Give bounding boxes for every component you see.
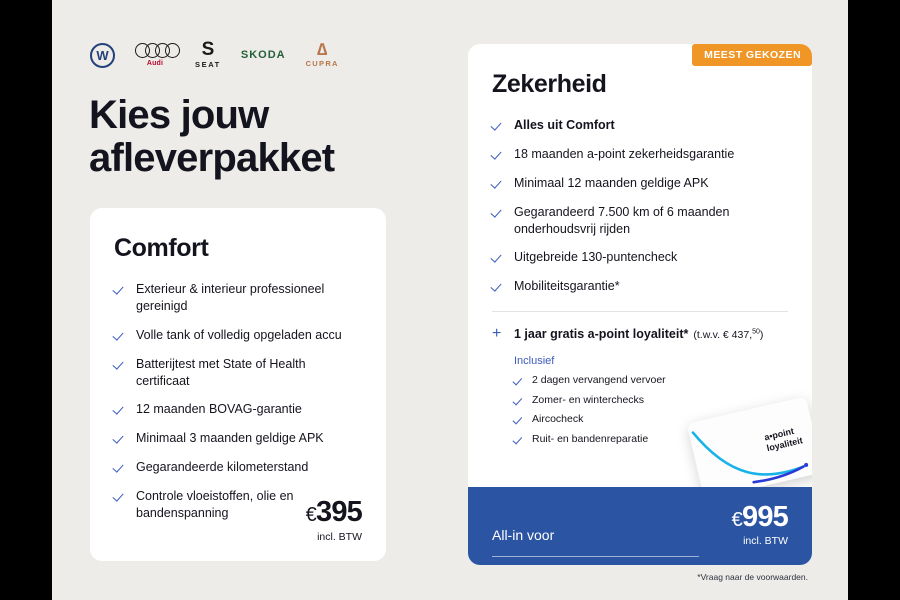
check-icon (114, 359, 126, 371)
audi-wordmark: Audi (147, 60, 163, 67)
seat-s-icon: S (202, 41, 215, 58)
check-icon (114, 462, 126, 474)
check-icon (114, 284, 126, 296)
feature-text: Gegarandeerde kilometerstand (136, 459, 308, 476)
feature-text: Uitgebreide 130-puntencheck (514, 249, 677, 266)
comfort-feature-list: Exterieur & interieur professioneel gere… (114, 281, 362, 522)
sub-feature-text: Aircocheck (532, 413, 583, 427)
price-amount: 395 (316, 496, 362, 528)
check-icon (514, 376, 524, 386)
price-amount: 995 (742, 501, 788, 533)
list-item: Uitgebreide 130-puntencheck (492, 249, 788, 266)
list-item: Zomer- en winterchecks (514, 394, 788, 408)
screenshot-stage: W Audi S SEAT SKODA ∆ CUPRA Kies jouw af… (0, 0, 900, 600)
list-item: 18 maanden a-point zekerheidsgarantie (492, 146, 788, 163)
feature-text: Mobiliteitsgarantie* (514, 278, 620, 295)
list-item: Gegarandeerd 7.500 km of 6 maanden onder… (492, 204, 788, 238)
feature-text: Minimaal 3 maanden geldige APK (136, 430, 324, 447)
loyalty-title-text: 1 jaar gratis a-point loyaliteit* (514, 327, 688, 341)
check-icon (492, 281, 504, 293)
package-card-zekerheid[interactable]: MEEST GEKOZEN Zekerheid Alles uit Comfor… (468, 44, 812, 565)
sub-feature-text: Ruit- en bandenreparatie (532, 433, 648, 447)
feature-text: Volle tank of volledig opgeladen accu (136, 327, 342, 344)
comfort-price-block: €395 incl. BTW (306, 498, 362, 543)
check-icon (114, 433, 126, 445)
audi-logo: Audi (135, 43, 175, 67)
audi-rings-icon (135, 43, 175, 58)
currency-symbol: € (732, 509, 742, 531)
feature-text: Gegarandeerd 7.500 km of 6 maanden onder… (514, 204, 788, 238)
zekerheid-title: Zekerheid (492, 70, 788, 99)
loyalty-title: 1 jaar gratis a-point loyaliteit*(t.w.v.… (514, 327, 763, 341)
zekerheid-feature-list: Alles uit Comfort 18 maanden a-point zek… (492, 117, 788, 295)
list-item: 2 dagen vervangend vervoer (514, 374, 788, 388)
loyalty-value-suffix: ) (760, 329, 764, 341)
footer-rule (492, 556, 699, 557)
list-item: Batterijtest met State of Health certifi… (114, 356, 362, 390)
zekerheid-price-footer: All-in voor €995 incl. BTW (468, 487, 812, 565)
footer-row: All-in voor €995 incl. BTW (492, 503, 788, 547)
package-card-comfort[interactable]: Comfort Exterieur & interieur profession… (90, 208, 386, 561)
plus-icon: + (492, 326, 504, 342)
skoda-wordmark: SKODA (241, 49, 286, 61)
comfort-title: Comfort (114, 234, 362, 263)
check-icon (114, 330, 126, 342)
page-canvas: W Audi S SEAT SKODA ∆ CUPRA Kies jouw af… (52, 0, 848, 600)
check-icon (114, 491, 126, 503)
zekerheid-body: MEEST GEKOZEN Zekerheid Alles uit Comfor… (468, 44, 812, 447)
comfort-price-note: incl. BTW (306, 531, 362, 543)
check-icon (492, 120, 504, 132)
feature-text: 18 maanden a-point zekerheidsgarantie (514, 146, 734, 163)
cupra-logo: ∆ CUPRA (306, 42, 339, 67)
loyalty-highlight-row: + 1 jaar gratis a-point loyaliteit*(t.w.… (492, 326, 788, 342)
footnote: *Vraag naar de voorwaarden. (697, 572, 808, 582)
check-icon (492, 178, 504, 190)
check-icon (492, 149, 504, 161)
list-item: Minimaal 12 maanden geldige APK (492, 175, 788, 192)
feature-text: Exterieur & interieur professioneel gere… (136, 281, 362, 315)
status-badge: MEEST GEKOZEN (692, 44, 812, 66)
feature-text: 12 maanden BOVAG-garantie (136, 401, 302, 418)
seat-wordmark: SEAT (195, 60, 221, 69)
list-item: Exterieur & interieur professioneel gere… (114, 281, 362, 315)
list-item: Minimaal 3 maanden geldige APK (114, 430, 362, 447)
loyalty-value-cents: 50 (752, 329, 760, 336)
allin-label: All-in voor (492, 527, 554, 547)
cupra-wordmark: CUPRA (306, 59, 339, 68)
comfort-price: €395 (306, 498, 362, 527)
check-icon (114, 404, 126, 416)
loyalty-value-note: (t.w.v. € 437,50) (693, 329, 763, 341)
check-icon (514, 415, 524, 425)
cupra-triangle-icon: ∆ (317, 42, 327, 57)
skoda-logo: SKODA (241, 49, 286, 61)
feature-text: Alles uit Comfort (514, 117, 615, 134)
seat-logo: S SEAT (195, 41, 221, 68)
sub-feature-text: Zomer- en winterchecks (532, 394, 644, 408)
page-title: Kies jouw afleverpakket (89, 94, 419, 180)
sub-feature-text: 2 dagen vervangend vervoer (532, 374, 666, 388)
zekerheid-price-note: incl. BTW (732, 535, 788, 547)
brand-logo-strip: W Audi S SEAT SKODA ∆ CUPRA (90, 38, 339, 72)
check-icon (514, 435, 524, 445)
list-item: Alles uit Comfort (492, 117, 788, 134)
check-icon (492, 207, 504, 219)
zekerheid-price-block: €995 incl. BTW (732, 503, 788, 547)
check-icon (492, 252, 504, 264)
list-item: Gegarandeerde kilometerstand (114, 459, 362, 476)
inclusief-label: Inclusief (514, 355, 788, 367)
vw-roundel-icon: W (90, 43, 115, 68)
loyalty-value-prefix: (t.w.v. € 437, (693, 329, 752, 341)
check-icon (514, 396, 524, 406)
list-item: Volle tank of volledig opgeladen accu (114, 327, 362, 344)
feature-text: Batterijtest met State of Health certifi… (136, 356, 362, 390)
volkswagen-logo: W (90, 43, 115, 68)
list-item: Mobiliteitsgarantie* (492, 278, 788, 295)
zekerheid-price: €995 (732, 503, 788, 532)
section-divider (492, 311, 788, 312)
currency-symbol: € (306, 504, 316, 526)
list-item: 12 maanden BOVAG-garantie (114, 401, 362, 418)
feature-text: Minimaal 12 maanden geldige APK (514, 175, 709, 192)
